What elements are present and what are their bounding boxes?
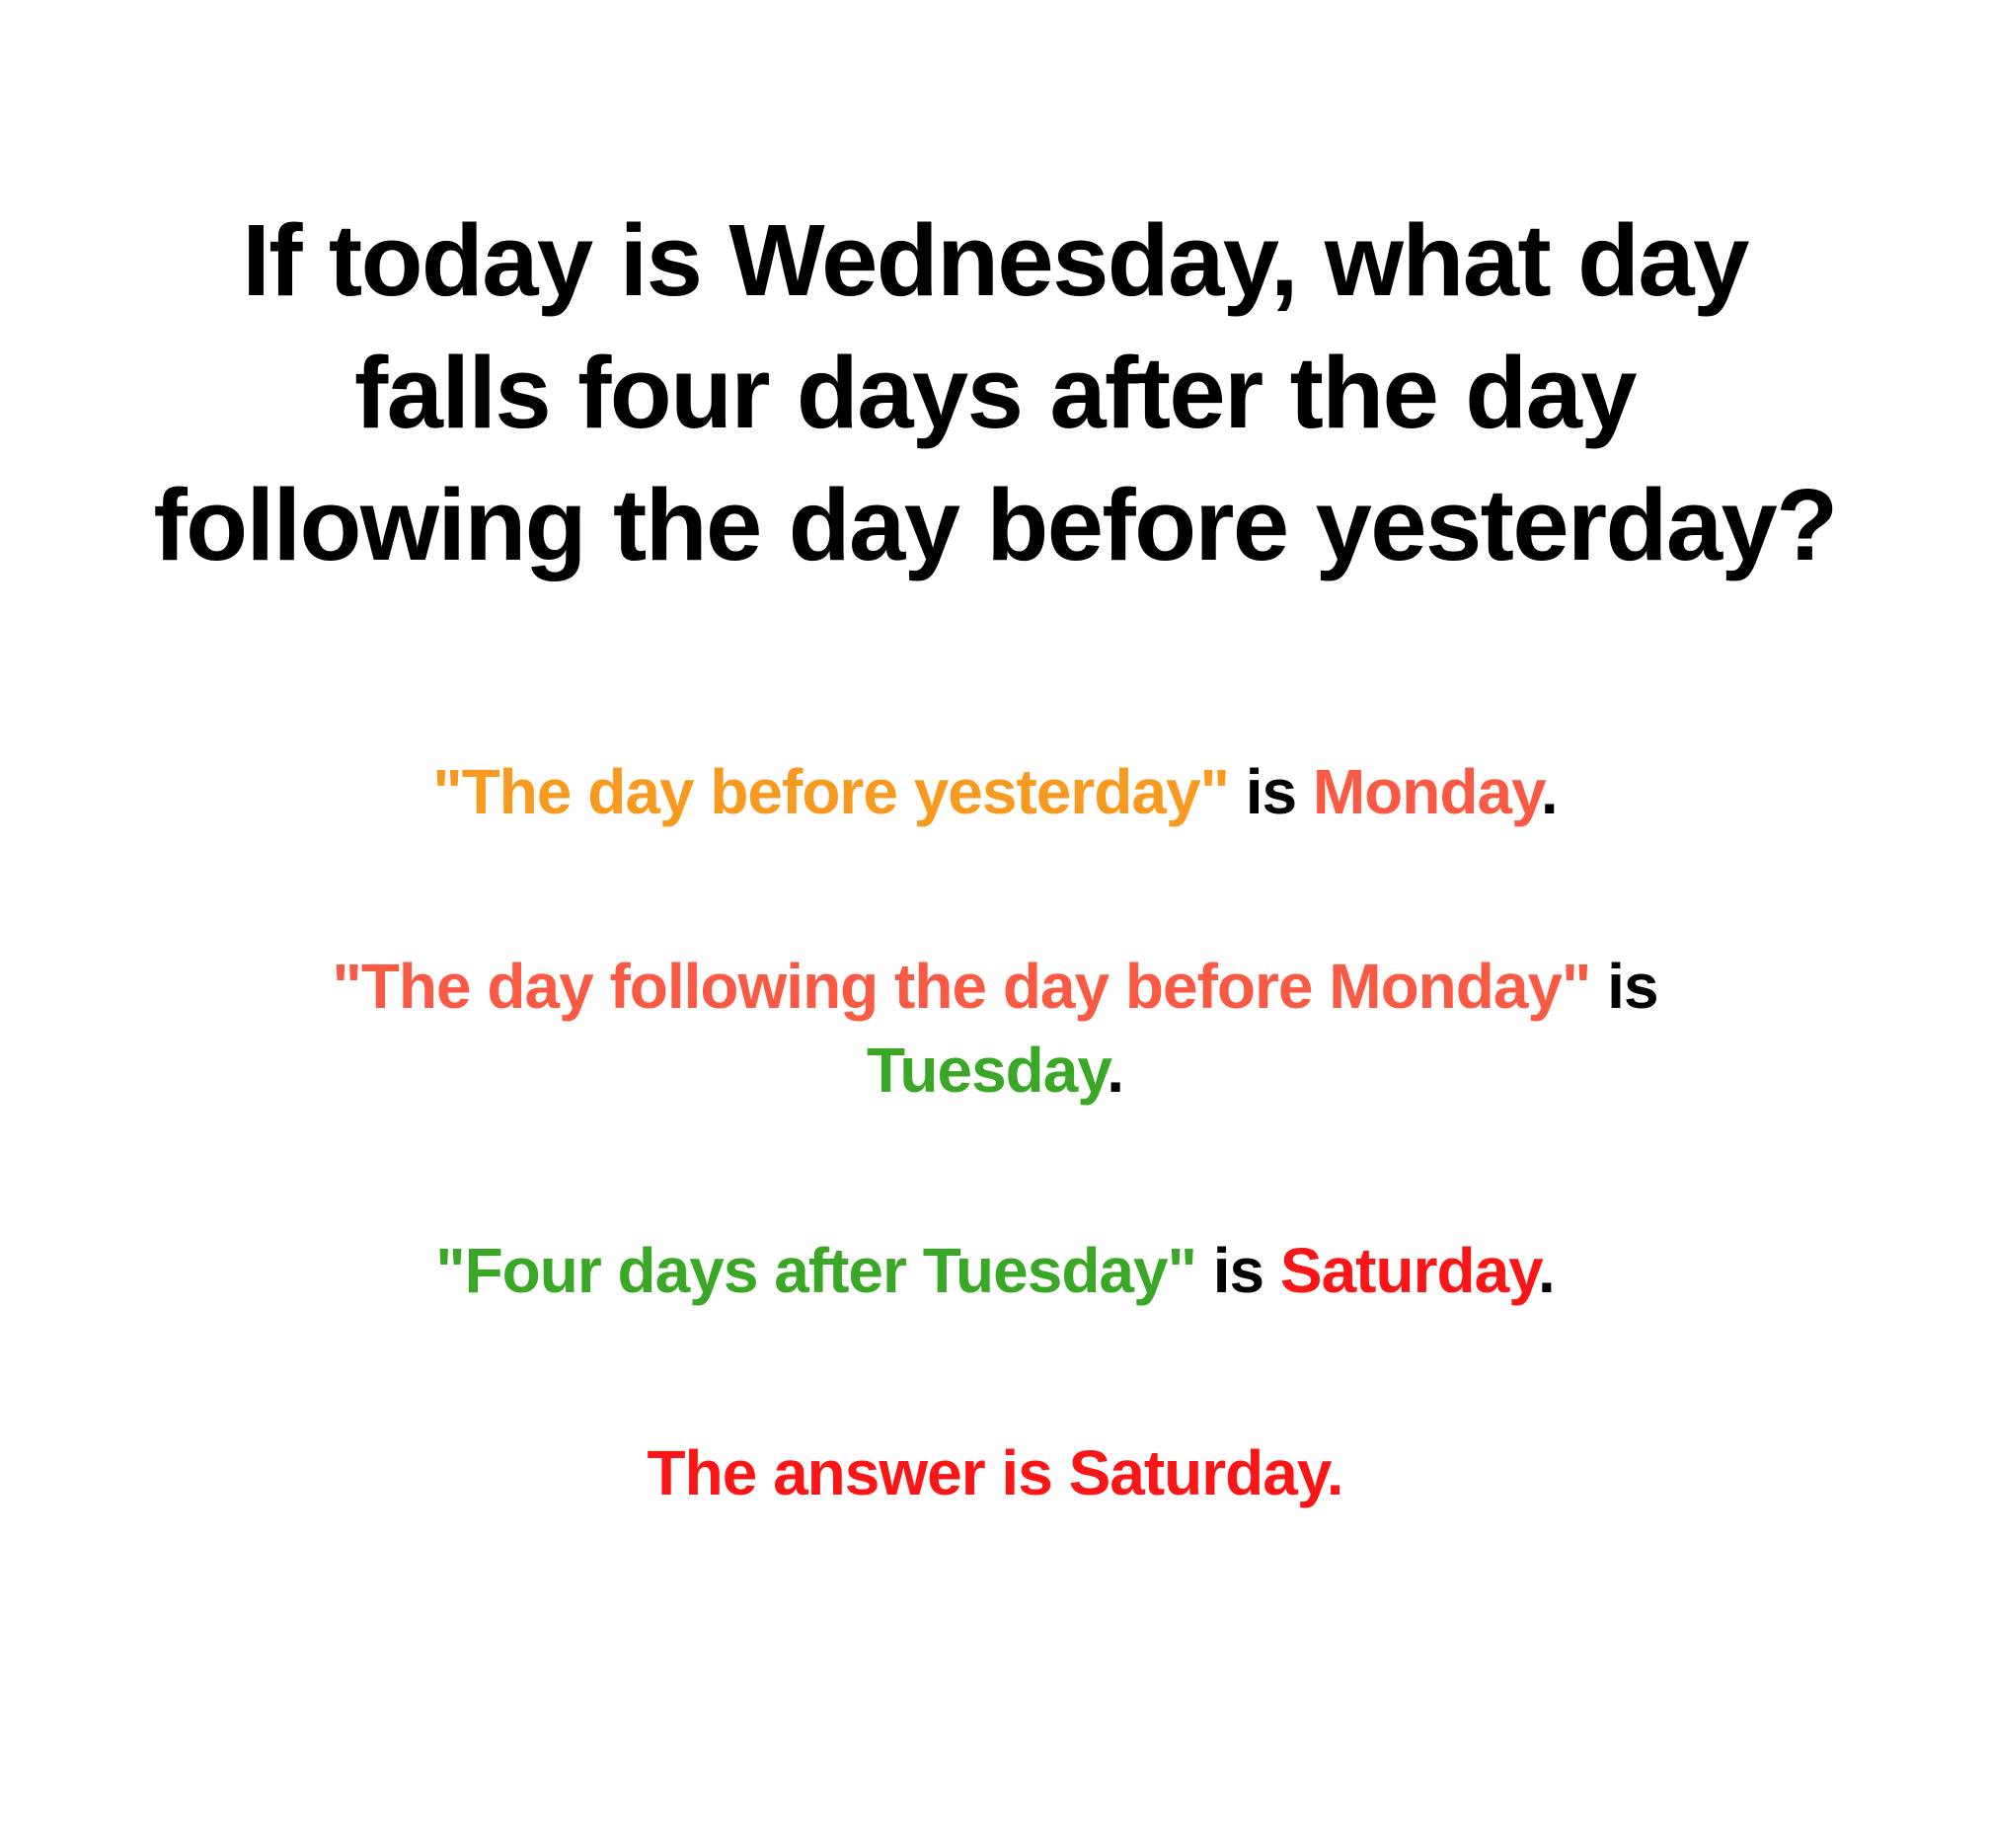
puzzle-page: If today is Wednesday, what dayfalls fou… (0, 0, 1990, 1848)
solution-steps: "The day before yesterday" is Monday. "T… (30, 750, 1960, 1516)
step-1-phrase: "The day before yesterday" (432, 756, 1229, 827)
solution-step-1: "The day before yesterday" is Monday. (30, 750, 1960, 834)
step-1-result: Monday (1313, 756, 1541, 827)
step-1-period: . (1541, 756, 1558, 827)
step-3-period: . (1538, 1235, 1555, 1306)
solution-step-2: "The day following the day before Monday… (30, 945, 1960, 1113)
step-2-phrase: "The day following the day before Monday… (332, 951, 1590, 1022)
step-1-connector: is (1229, 756, 1313, 827)
title-line-1: If today is Wednesday, what day (242, 203, 1748, 317)
step-3-phrase: "Four days after Tuesday" (435, 1235, 1196, 1306)
step-2-period: . (1107, 1035, 1123, 1106)
step-3-connector: is (1196, 1235, 1280, 1306)
title-line-3: following the day before yesterday? (153, 468, 1836, 581)
solution-step-3: "Four days after Tuesday" is Saturday. (30, 1229, 1960, 1313)
final-answer-text: The answer is Saturday. (648, 1437, 1343, 1508)
step-2-connector: is (1590, 951, 1657, 1022)
page-title: If today is Wednesday, what dayfalls fou… (34, 194, 1956, 591)
title-line-2: falls four days after the day (354, 336, 1636, 449)
step-2-result: Tuesday (867, 1035, 1107, 1106)
step-3-result: Saturday (1280, 1235, 1538, 1306)
final-answer: The answer is Saturday. (30, 1431, 1960, 1515)
